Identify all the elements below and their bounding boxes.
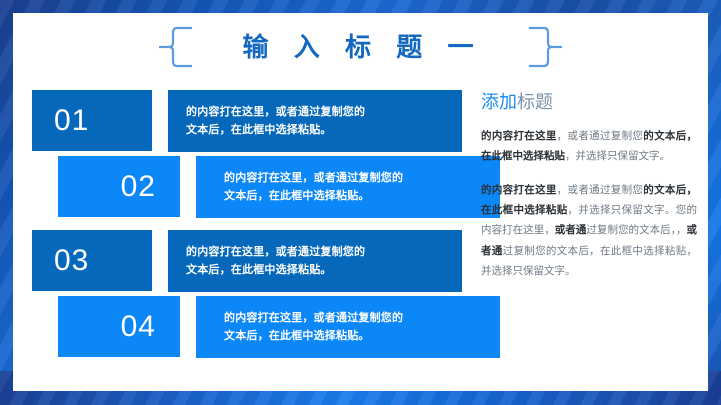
right-paragraph-2: 的内容打在这里，或者通过复制您的文本后，在此框中选择粘贴，并选择只保留文字。您的… xyxy=(481,180,697,282)
para2-seg8: 过复制您的文本后，在此框中选择粘贴，并选择只保留文字。 xyxy=(481,245,697,277)
number-badge-label: 02 xyxy=(121,170,156,204)
content-box-02-line2: 文本后，在此框中选择粘贴。 xyxy=(224,187,486,205)
para1-seg1: 的内容打在这里 xyxy=(481,130,557,142)
content-box-03-line2: 文本后，在此框中选择粘贴。 xyxy=(186,261,448,279)
para2-seg2: ，或者通过复制您 xyxy=(557,184,644,196)
numbered-items-column: 01 的内容打在这里，或者通过复制您的 文本后，在此框中选择粘贴。 02 的内容… xyxy=(0,84,470,374)
right-text-column: 添加标题 的内容打在这里，或者通过复制您的文本后，在此框中选择粘贴，并选择只保留… xyxy=(481,92,697,295)
para1-seg4: ，并选择只保留文字。 xyxy=(565,150,670,162)
right-paragraph-1: 的内容打在这里，或者通过复制您的文本后，在此框中选择粘贴，并选择只保留文字。 xyxy=(481,126,697,167)
left-brace-icon xyxy=(157,24,213,70)
number-badge-03[interactable]: 03 xyxy=(32,230,152,291)
content-box-04-line1: 的内容打在这里，或者通过复制您的 xyxy=(224,309,486,327)
number-badge-01[interactable]: 01 xyxy=(32,90,152,151)
para1-seg2: ，或者通过复制您 xyxy=(557,130,644,142)
content-box-01[interactable]: 的内容打在这里，或者通过复制您的 文本后，在此框中选择粘贴。 xyxy=(168,90,462,152)
content-box-01-line2: 文本后，在此框中选择粘贴。 xyxy=(186,121,448,139)
number-badge-04[interactable]: 04 xyxy=(58,296,180,357)
para2-seg6: 过复制您的文本后，， xyxy=(586,224,686,236)
content-box-02-line1: 的内容打在这里，或者通过复制您的 xyxy=(224,169,486,187)
number-badge-label: 03 xyxy=(54,244,89,278)
content-box-03[interactable]: 的内容打在这里，或者通过复制您的 文本后，在此框中选择粘贴。 xyxy=(168,230,462,292)
content-box-04[interactable]: 的内容打在这里，或者通过复制您的 文本后，在此框中选择粘贴。 xyxy=(196,296,500,358)
content-box-04-line2: 文本后，在此框中选择粘贴。 xyxy=(224,327,486,345)
para2-seg1: 的内容打在这里 xyxy=(481,184,557,196)
right-heading: 添加标题 xyxy=(481,92,697,114)
page-title: 输 入 标 题 一 xyxy=(213,34,509,60)
number-badge-label: 01 xyxy=(54,104,89,138)
content-box-03-line1: 的内容打在这里，或者通过复制您的 xyxy=(186,243,448,261)
right-brace-icon xyxy=(508,24,564,70)
content-box-02[interactable]: 的内容打在这里，或者通过复制您的 文本后，在此框中选择粘贴。 xyxy=(196,156,500,218)
content-box-01-line1: 的内容打在这里，或者通过复制您的 xyxy=(186,103,448,121)
number-badge-label: 04 xyxy=(121,310,156,344)
right-heading-part1: 添加 xyxy=(481,92,517,112)
slide-canvas: 输 入 标 题 一 01 的内容打在这里，或者通过复制您的 文本后，在此框中选择… xyxy=(0,0,721,405)
para2-seg5: 或者通 xyxy=(555,224,587,236)
right-heading-part2: 标题 xyxy=(517,92,553,112)
number-badge-02[interactable]: 02 xyxy=(58,156,180,217)
slide-title-row: 输 入 标 题 一 xyxy=(0,22,721,72)
